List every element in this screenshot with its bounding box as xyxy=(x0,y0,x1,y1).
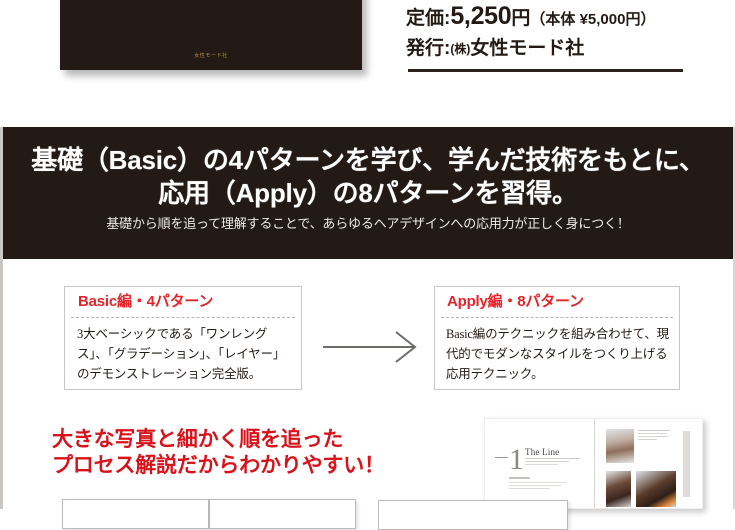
apply-box-body: Basic編のテクニックを組み合わせて、現代的でモダンなスタイルをつくり上げる応… xyxy=(435,317,679,384)
price-info-block: 定価:5,250円（本体 ¥5,000円） 発行:(株)女性モード社 xyxy=(406,2,698,64)
publisher-name: 女性モード社 xyxy=(470,38,584,59)
book-cover-image: 女性モード社 xyxy=(60,0,362,70)
chapter-title: The Line xyxy=(525,447,559,457)
publisher-label: 発行: xyxy=(406,38,450,59)
chapter-rule xyxy=(495,457,508,458)
book-cover-thumbnail: 女性モード社 xyxy=(60,0,362,70)
apply-box-divider xyxy=(441,317,673,318)
feature-headline-line-2: プロセス解説だからわかりやすい！ xyxy=(52,453,385,479)
basic-box-body: 3大ベーシックである「ワンレングス」、「グラデーション」、「レイヤー」のデモンス… xyxy=(65,317,301,384)
apply-box-heading: Apply編・8パターン xyxy=(435,287,679,317)
process-photo-back xyxy=(606,471,631,507)
bottom-panel-3 xyxy=(378,500,568,530)
banner-headline: 基礎（Basic）の4パターンを学び、学んだ技術をもとに、 応用（Apply）の… xyxy=(3,144,733,210)
banner-subtitle: 基礎から順を追って理解することで、あらゆるヘアデザインへの応用力が正しく身につく… xyxy=(3,215,733,233)
price-amount: 5,250 xyxy=(450,2,511,30)
process-photo-cutting xyxy=(636,471,676,507)
feature-headline: 大きな写真と細かく順を追った プロセス解説だからわかりやすい！ xyxy=(52,427,385,479)
top-section: 女性モード社 定価:5,250円（本体 ¥5,000円） 発行:(株)女性モード… xyxy=(0,0,735,127)
spread-caption-lines xyxy=(638,430,670,442)
cover-brand-label: 女性モード社 xyxy=(60,52,362,59)
publisher-line: 発行:(株)女性モード社 xyxy=(406,34,698,64)
publisher-divider-rule xyxy=(408,69,683,72)
banner-headline-line-2: 応用（Apply）の8パターンを習得。 xyxy=(3,177,733,210)
model-photo-front xyxy=(606,429,634,463)
bottom-panel-2 xyxy=(209,499,356,529)
publisher-corp-mark: (株) xyxy=(450,42,470,56)
price-base-note: （本体 ¥5,000円） xyxy=(530,11,655,28)
bottom-panel-1 xyxy=(62,499,209,529)
book-spread-thumbnail: 1 The Line xyxy=(484,418,703,509)
price-currency-unit: 円 xyxy=(511,8,530,29)
price-line: 定価:5,250円（本体 ¥5,000円） xyxy=(406,2,698,34)
spread-side-lines xyxy=(683,431,690,497)
basic-pattern-box: Basic編・4パターン 3大ベーシックである「ワンレングス」、「グラデーション… xyxy=(64,286,302,390)
chapter-subtext-lines xyxy=(525,458,580,465)
headline-banner: 基礎（Basic）の4パターンを学び、学んだ技術をもとに、 応用（Apply）の… xyxy=(3,127,733,259)
chapter-detail-lines xyxy=(509,477,567,491)
promo-page: 女性モード社 定価:5,250円（本体 ¥5,000円） 発行:(株)女性モード… xyxy=(0,0,735,509)
banner-headline-line-1: 基礎（Basic）の4パターンを学び、学んだ技術をもとに、 xyxy=(3,144,733,177)
basic-box-divider xyxy=(71,317,295,318)
apply-pattern-box: Apply編・8パターン Basic編のテクニックを組み合わせて、現代的でモダン… xyxy=(434,286,680,390)
spread-gutter xyxy=(594,419,595,508)
basic-box-heading: Basic編・4パターン xyxy=(65,287,301,317)
chapter-number: 1 xyxy=(509,445,524,475)
feature-headline-line-1: 大きな写真と細かく順を追った xyxy=(52,427,385,453)
right-arrow-icon xyxy=(322,330,422,364)
price-label: 定価: xyxy=(406,8,450,29)
